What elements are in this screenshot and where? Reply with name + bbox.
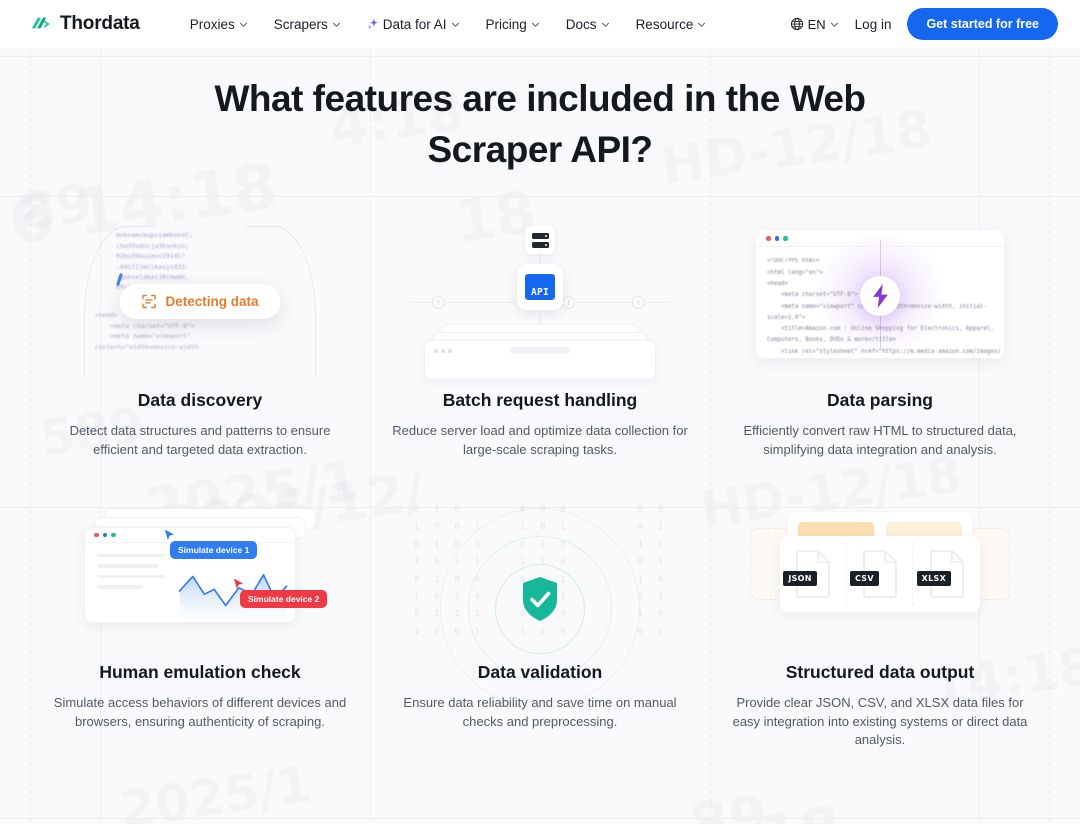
- lightning-bolt-badge: [860, 276, 900, 316]
- nav-item-data-for-ai[interactable]: Data for AI: [367, 17, 460, 32]
- nav-item-pricing[interactable]: Pricing: [486, 17, 540, 32]
- language-selector[interactable]: EN: [790, 17, 839, 32]
- art-batch-request: ) ( ( API: [410, 226, 670, 376]
- chevron-down-icon: [239, 20, 248, 29]
- nav-menu: Proxies Scrapers Data for AI Pricing Doc…: [190, 17, 707, 32]
- pill-label: Detecting data: [165, 294, 258, 309]
- file-type-badge: XLSX: [917, 571, 951, 586]
- file-type-badge: JSON: [783, 571, 816, 586]
- language-label: EN: [808, 17, 826, 32]
- cursor-red-icon: [233, 578, 244, 590]
- scan-frame-icon: [141, 294, 156, 309]
- art-data-validation: 0 1 0 1 0 0 1 0 1 0 0 1 0 1 1 0 1 0 0 1 …: [410, 498, 670, 648]
- file-xlsx: XLSX: [926, 549, 968, 599]
- api-node: API: [517, 264, 563, 310]
- logo[interactable]: Thordata: [30, 13, 140, 36]
- blurred-code-top: eoknamckupczamkonal; (ha39sdncja3ksnk)n;…: [116, 230, 284, 292]
- nav-item-label: Scrapers: [274, 17, 328, 32]
- server-icon: [525, 226, 555, 254]
- folder-divider: [846, 542, 847, 606]
- nav-item-resource[interactable]: Resource: [636, 17, 707, 32]
- chevron-down-icon: [830, 20, 839, 29]
- art-data-discovery: eoknamckupczamkonal; (ha39sdncja3ksnk)n;…: [70, 226, 330, 376]
- shield-check-badge: [520, 576, 560, 627]
- card-title: Structured data output: [726, 662, 1034, 683]
- file-type-badge: CSV: [850, 571, 879, 586]
- folder-tab-cream: [886, 522, 962, 536]
- nav-item-scrapers[interactable]: Scrapers: [274, 17, 341, 32]
- chevron-down-icon: [531, 20, 540, 29]
- feature-card-data-parsing: <!DOCTYPE html> <html lang="en"> <head> …: [710, 210, 1050, 481]
- art-human-emulation: Simulate device 1 Simulate device 2: [70, 498, 330, 648]
- card-description: Efficiently convert raw HTML to structur…: [726, 422, 1034, 459]
- card-title: Data discovery: [46, 390, 354, 411]
- nav-item-label: Pricing: [486, 17, 527, 32]
- network-node: ): [432, 296, 445, 309]
- get-started-button[interactable]: Get started for free: [907, 8, 1058, 40]
- feature-card-data-validation: 0 1 0 1 0 0 1 0 1 0 0 1 0 1 1 0 1 0 0 1 …: [370, 482, 710, 772]
- top-navbar: Thordata Proxies Scrapers Data for AI Pr…: [0, 0, 1080, 48]
- folder-front: JSON CSV XLSX: [780, 536, 980, 612]
- logo-text: Thordata: [60, 13, 140, 35]
- thordata-slash-logo-icon: [30, 13, 53, 36]
- chevron-down-icon: [332, 20, 341, 29]
- cursor-blue-icon: [164, 529, 175, 541]
- feature-card-human-emulation-check: Simulate device 1 Simulate device 2 Huma…: [30, 482, 370, 772]
- card-title: Data parsing: [726, 390, 1034, 411]
- api-label: API: [526, 280, 554, 300]
- watermark-text: 18: [756, 793, 845, 824]
- nav-item-label: Proxies: [190, 17, 235, 32]
- window-tab: [510, 347, 570, 354]
- card-description: Provide clear JSON, CSV, and XLSX data f…: [726, 694, 1034, 750]
- heading-line-1: What features are included in the Web: [214, 78, 865, 119]
- folder-tab-yellow: [798, 522, 874, 536]
- nav-right-actions: EN Log in Get started for free: [790, 8, 1058, 40]
- content-skeleton: [97, 554, 165, 589]
- lightning-bolt-icon: [871, 284, 890, 308]
- globe-icon: [790, 17, 804, 31]
- page-title: What features are included in the Web Sc…: [0, 48, 1080, 175]
- feature-card-data-discovery: eoknamckupczamkonal; (ha39sdncja3ksnk)n;…: [30, 210, 370, 481]
- network-node: (: [632, 296, 645, 309]
- sparkle-icon: [367, 18, 379, 30]
- file-json: JSON: [792, 549, 834, 599]
- window-dots: [434, 349, 452, 353]
- watermark-text: 89: [686, 783, 772, 824]
- shield-check-icon: [520, 576, 560, 622]
- detecting-data-pill: Detecting data: [119, 284, 280, 319]
- features-section: 6 14:18892025/15892025/12/HD-12/184:18HD…: [0, 48, 1080, 824]
- nav-item-docs[interactable]: Docs: [566, 17, 610, 32]
- login-link[interactable]: Log in: [855, 17, 892, 32]
- nav-item-label: Data for AI: [383, 17, 447, 32]
- card-description: Detect data structures and patterns to e…: [46, 422, 354, 459]
- card-title: Human emulation check: [46, 662, 354, 683]
- chevron-down-icon: [451, 20, 460, 29]
- chevron-down-icon: [601, 20, 610, 29]
- nav-item-label: Docs: [566, 17, 597, 32]
- feature-card-structured-data-output: JSON CSV XLSX: [710, 482, 1050, 772]
- stacked-card-front: [424, 340, 656, 380]
- api-window-icon: API: [525, 274, 555, 300]
- nav-item-label: Resource: [636, 17, 694, 32]
- nav-item-proxies[interactable]: Proxies: [190, 17, 248, 32]
- simulate-device-2-tag: Simulate device 2: [240, 590, 327, 608]
- card-title: Batch request handling: [386, 390, 694, 411]
- chevron-down-icon: [697, 20, 706, 29]
- heading-line-2: Scraper API?: [428, 129, 653, 170]
- feature-card-batch-request-handling: ) ( ( API: [370, 210, 710, 481]
- binary-digits-right: 0 0 0 1 1 0 0 1 1 0 0 1 1 0 0 1: [638, 502, 668, 641]
- art-structured-output: JSON CSV XLSX: [750, 498, 1010, 648]
- feature-grid: eoknamckupczamkonal; (ha39sdncja3ksnk)n;…: [30, 210, 1050, 772]
- art-data-parsing: <!DOCTYPE html> <html lang="en"> <head> …: [750, 226, 1010, 376]
- card-description: Reduce server load and optimize data col…: [386, 422, 694, 459]
- card-description: Simulate access behaviors of different d…: [46, 694, 354, 731]
- folder-divider: [912, 542, 913, 606]
- network-node: (: [562, 296, 575, 309]
- file-csv: CSV: [859, 549, 901, 599]
- simulate-device-1-tag: Simulate device 1: [170, 541, 257, 559]
